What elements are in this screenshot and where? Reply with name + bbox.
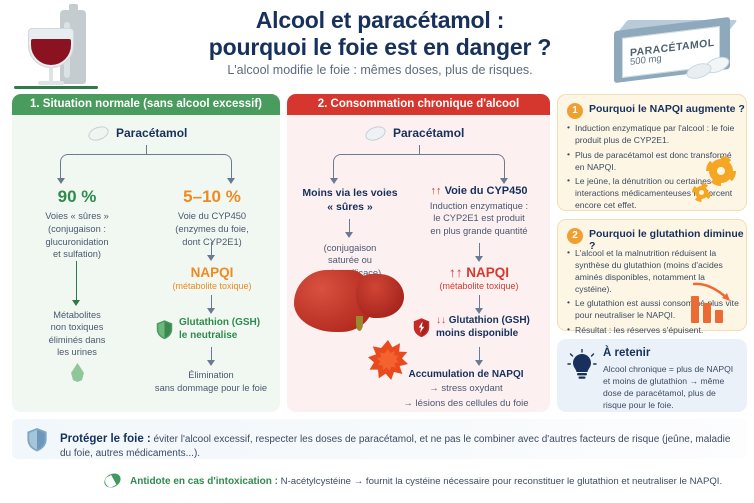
page-title-line2: pourquoi le foie est en danger ? [110,34,650,61]
glutathione-node-chronic: ↓↓ Glutathion (GSH) moins disponible [413,315,530,340]
glutathione-line1-chronic: Glutathion (GSH) [449,315,530,326]
napqi-label-chronic: NAPQI [466,265,509,280]
tablet-icon [363,123,387,142]
chronic-safe-arrow-head [345,232,353,238]
liver-organ-icon [294,264,410,342]
gears-icon [692,156,736,202]
napqi-arrow-head-normal [207,308,215,314]
card-badge-2: 2 [567,228,583,244]
page-header: Alcool et paracétamol : pourquoi le foie… [0,0,754,90]
paracetamol-node-normal: Paracétamol [88,126,187,140]
glutathione-line1: Glutathion (GSH) [179,317,260,330]
paracetamol-node-chronic: Paracétamol [365,126,464,140]
split-arrow-normal [60,145,232,185]
gsh-arrow-head-normal [207,360,215,366]
protect-text: éviter l'alcool excessif, respecter les … [60,434,730,459]
glutathione-line2: le neutralise [179,330,260,343]
chronic-cyp450-arrow-line [479,243,480,257]
safe-pathway-detail: (conjugaison : glucuronidation et sulfat… [18,223,136,260]
normal-outcome-line1: Élimination [142,369,280,381]
paracetamol-label: Paracétamol [393,126,464,140]
gsh-arrow-line-chronic [479,347,480,361]
gsh-down-arrows: ↓↓ [436,315,446,326]
card1-bullet-0: Induction enzymatique par l'alcool : le … [567,123,739,147]
cyp450-up-arrows: ↑↑ [431,185,442,197]
gsh-arrow-line-normal [211,347,212,361]
takeaway-body: Alcool chronique = plus de NAPQI et moin… [603,363,737,411]
napqi-arrow-head-chronic [475,308,483,314]
antidote-text: N-acétylcystéine → fournit la cystéine n… [278,476,722,487]
card-title-1: Pourquoi le NAPQI augmente ? [589,103,745,115]
green-shield-icon [156,319,173,340]
cyp450-arrow-head [207,255,215,261]
chronic-safe-arrow-line [349,219,350,233]
chronic-outcome-item-1: → lésions des cellules du foie [383,398,549,411]
card-badge-1: 1 [567,103,583,119]
safe-pathway-title: Voies « sûres » [18,210,136,222]
napqi-sub-chronic: (métabolite toxique) [409,281,549,291]
panel-normal-heading: 1. Situation normale (sans alcool excess… [12,94,280,115]
chronic-cyp450-arrow-head [475,256,483,262]
capsule-icon [102,471,123,490]
lightbulb-icon [567,349,597,381]
chronic-safe-title-line2: « sûres » [291,201,409,213]
napqi-node-chronic: ↑↑ NAPQI [409,265,549,280]
page-title: Alcool et paracétamol : pourquoi le foie… [110,7,650,61]
antidote-label: Antidote en cas d'intoxication : [130,476,278,487]
glutathione-line2-chronic: moins disponible [436,328,530,341]
tablet-icon [86,123,110,142]
normal-safe-pathway: 90 % Voies « sûres » (conjugaison : gluc… [18,187,136,260]
takeaway-title: À retenir [603,347,650,359]
bar-protect-liver: Protéger le foie : éviter l'alcool exces… [12,419,747,459]
normal-cyp450-pathway: 5–10 % Voie du CYP450 (enzymes du foie, … [150,187,274,248]
normal-outcome-line2: sans dommage pour le foie [140,382,280,394]
chronic-outcome-title: Accumulation de NAPQI [383,369,549,380]
napqi-sub-normal: (métabolite toxique) [152,281,272,291]
card2-bullet-2: Résultat : les réserves s'épuisent. [567,325,739,337]
glutathione-node-normal: Glutathion (GSH) le neutralise [156,317,260,342]
cyp450-arrow-line [211,242,212,256]
chronic-cyp450-title: Voie du CYP450 [445,185,528,197]
paracetamol-box-icon: PARACÉTAMOL 500 mg [608,20,748,88]
broken-red-shield-icon [413,317,430,338]
safe-pathway-percent: 90 % [18,187,136,207]
safe-pathway-outcome: Métabolites non toxiques éliminés dans l… [20,309,134,358]
chronic-outcome-block: Accumulation de NAPQI → stress oxydant →… [383,369,549,412]
card-why-napqi-increases: 1 Pourquoi le NAPQI augmente ? Induction… [557,94,747,211]
safe-pathway-arrow-line [76,261,77,301]
protect-label: Protéger le foie : [60,433,151,445]
napqi-label-normal: NAPQI [152,265,272,280]
shield-icon [26,427,48,452]
panel-chronic-heading: 2. Consommation chronique d'alcool [287,94,550,115]
paracetamol-label: Paracétamol [116,126,187,140]
napqi-up-arrows: ↑↑ [449,265,463,280]
panel-normal-situation: 1. Situation normale (sans alcool excess… [12,94,280,412]
chronic-safe-pathway: Moins via les voies « sûres » [291,187,409,213]
chronic-cyp450-pathway: ↑↑ Voie du CYP450 Induction enzymatique … [409,185,549,237]
page-subtitle: L'alcool modifie le foie : mêmes doses, … [110,63,650,77]
cyp450-percent: 5–10 % [150,187,274,207]
chronic-cyp450-detail: Induction enzymatique : le CYP2E1 est pr… [409,200,549,237]
card-why-glutathione-decreases: 2 Pourquoi le glutathion diminue ? L'alc… [557,219,747,331]
urine-drop-icon [70,363,85,382]
split-arrow-chronic [333,145,505,185]
bar-antidote: Antidote en cas d'intoxication : N-acéty… [12,466,747,499]
chronic-safe-title-line1: Moins via les voies [291,187,409,199]
protect-text-row: Protéger le foie : éviter l'alcool exces… [60,432,735,460]
panel-chronic-alcohol: 2. Consommation chronique d'alcool Parac… [287,94,550,412]
card-takeaway: À retenir Alcool chronique = plus de NAP… [557,339,747,412]
wine-bottle-and-glass-icon [14,6,98,90]
napqi-arrow-line-chronic [479,295,480,309]
safe-pathway-arrow-head [72,300,80,306]
cyp450-title: Voie du CYP450 [150,210,274,222]
antidote-text-row: Antidote en cas d'intoxication : N-acéty… [130,475,735,488]
page-title-line1: Alcool et paracétamol : [110,7,650,34]
chronic-outcome-item-0: → stress oxydant [383,383,549,396]
gsh-arrow-head-chronic [475,360,483,366]
declining-bar-chart-icon [689,281,737,323]
napqi-arrow-line-normal [211,295,212,309]
